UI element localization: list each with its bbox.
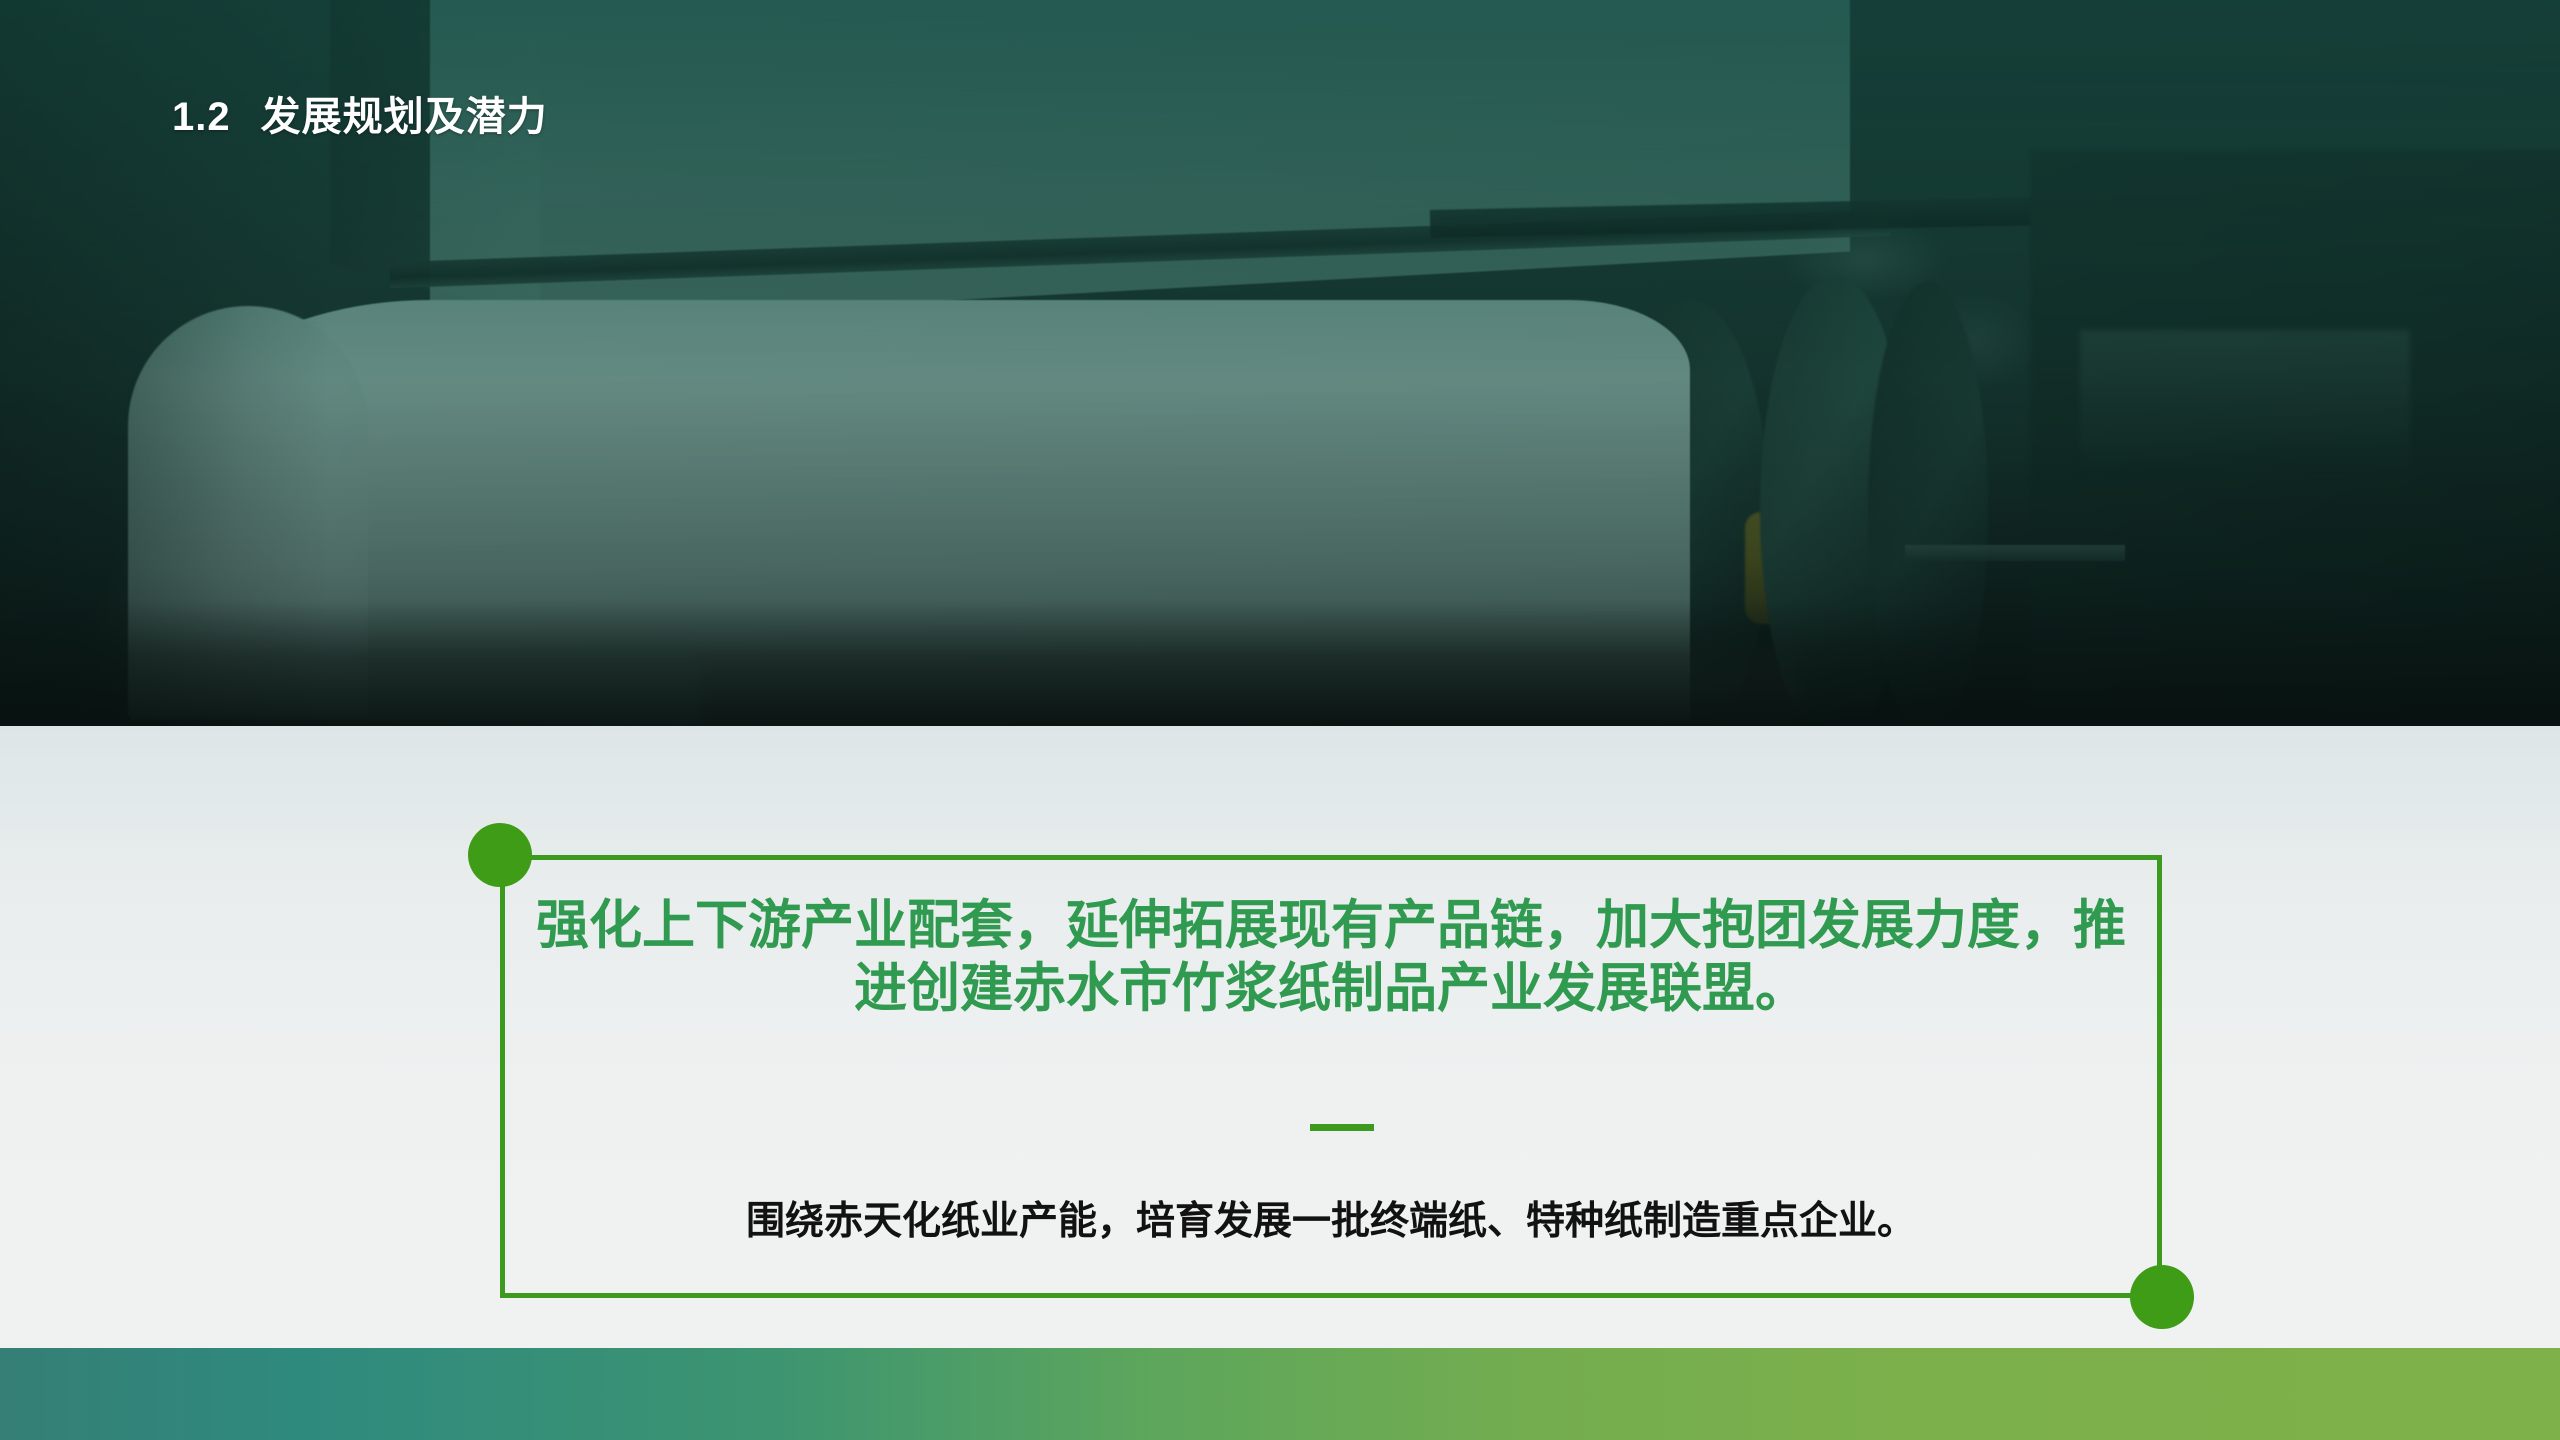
callout-heading: 强化上下游产业配套，延伸拓展现有产品链，加大抱团发展力度，推进创建赤水市竹浆纸制… (512, 895, 2150, 1020)
callout-corner-dot-bottom-right (2130, 1265, 2194, 1329)
callout-subtext: 围绕赤天化纸业产能，培育发展一批终端纸、特种纸制造重点企业。 (512, 1190, 2150, 1246)
section-number: 1.2 (172, 95, 231, 139)
section-title: 发展规划及潜力 (261, 95, 548, 139)
callout-divider (1310, 1124, 1374, 1131)
footer-gradient-bar (0, 1348, 2560, 1440)
callout-corner-dot-top-left (468, 823, 532, 887)
page-title: 1.2发展规划及潜力 (172, 84, 548, 142)
hero-banner: 1.2发展规划及潜力 (0, 0, 2560, 726)
